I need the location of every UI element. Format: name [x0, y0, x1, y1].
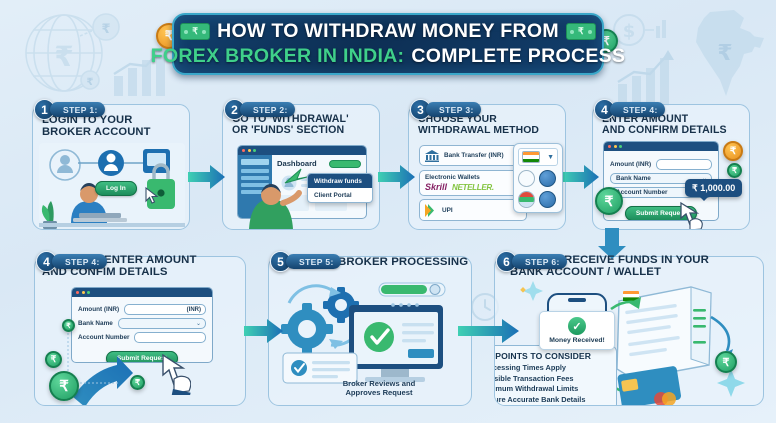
key-points-box: KEY POINTS TO CONSIDER Processing Times …	[494, 345, 617, 406]
step-pill-label: STEP 4:	[610, 102, 665, 117]
cursor-icon	[145, 187, 159, 205]
step-pill-label: STEP 5:	[286, 254, 341, 269]
login-button-label: Log In	[95, 181, 137, 196]
india-map-rupee-icon: ₹	[682, 6, 768, 102]
title-line-2-rest: COMPLETE PROCESS	[411, 45, 625, 68]
method-label: Bank Transfer (INR)	[444, 152, 504, 159]
chevron-down-icon[interactable]: ▼	[547, 154, 554, 161]
title-line-2-highlight: FOREX BROKER IN INDIA:	[151, 45, 405, 68]
step-1-head: 1 STEP 1:	[34, 99, 105, 120]
coin-badge: ₹	[715, 351, 737, 373]
title-line: ENTER AMOUNT	[104, 254, 197, 266]
coin-badge: ₹	[727, 163, 742, 178]
skrill-logo: Skrill	[425, 182, 447, 192]
globe-icon[interactable]	[539, 170, 556, 187]
step-5-title: BROKER PROCESSING	[338, 256, 468, 268]
title-line: OR 'FUNDS' SECTION	[232, 125, 349, 136]
india-flag-circle-icon[interactable]	[518, 170, 535, 187]
title-line: BROKER ACCOUNT	[42, 126, 151, 138]
globe-rupee-icon: ₹ ₹ ₹	[14, 8, 124, 103]
step-5-caption: Broker Reviews and Approves Request	[321, 379, 437, 398]
method-bank-transfer[interactable]: Bank Transfer (INR)	[419, 145, 527, 166]
coin-badge: ₹	[723, 141, 743, 161]
field-label: Bank Name	[616, 175, 651, 182]
banknote-icon: ₹	[180, 23, 210, 40]
maximize-dot-icon	[619, 145, 622, 148]
flow-arrow-icon	[244, 318, 284, 344]
menu-item-withdraw-funds[interactable]: Withdraw funds	[308, 174, 372, 188]
flow-arrow-icon	[378, 164, 416, 190]
upi-icon	[425, 204, 437, 217]
cursor-hand-icon	[677, 201, 703, 230]
field-label: Amount (INR)	[610, 161, 651, 168]
svg-text:₹: ₹	[54, 40, 73, 73]
svg-text:₹: ₹	[101, 22, 110, 37]
step-pill-label: STEP 1:	[50, 102, 105, 117]
key-point-item: Ensure Accurate Bank Details	[494, 395, 609, 406]
coin-badge-large: ₹	[595, 187, 623, 215]
method-electronic-wallets[interactable]: Electronic Wallets Skrill NETELLER.	[419, 170, 527, 196]
step-5-head: 5 STEP 5:	[270, 251, 341, 272]
coin-badge: ₹	[62, 319, 75, 332]
method-label: UPI	[442, 207, 453, 214]
method-upi[interactable]: UPI	[419, 199, 527, 221]
money-received-label: Money Received!	[549, 337, 605, 344]
step-card-5: Broker Reviews and Approves Request	[268, 256, 472, 406]
money-received-bubble: ✓ Money Received!	[539, 311, 615, 350]
caption-line: Broker Reviews and	[321, 379, 437, 388]
title-line-1: HOW TO WITHDRAW MONEY FROM	[217, 20, 559, 43]
step-pill-label: STEP 6:	[512, 254, 567, 269]
coin-badge: ₹	[45, 351, 62, 368]
method-label: Electronic Wallets	[425, 174, 480, 181]
key-points-title: KEY POINTS TO CONSIDER	[494, 351, 609, 361]
step-6-head: 6 STEP 6:	[496, 251, 567, 272]
amount-tooltip: ₹ 1,000.00	[685, 179, 742, 197]
key-point-item: Possible Transaction Fees	[494, 374, 609, 385]
step-6-title: RECEIVE FUNDS IN YOUR BANK ACCOUNT / WAL…	[564, 254, 709, 279]
menu-item-client-portal[interactable]: Client Portal	[308, 188, 372, 202]
step-pill-label: STEP 2:	[240, 102, 295, 117]
currency-region-selector[interactable]: ▼	[513, 143, 563, 213]
title-line: RECEIVE FUNDS IN YOUR	[564, 254, 709, 266]
amount-input[interactable]	[656, 159, 712, 170]
flow-arrow-icon	[458, 318, 520, 344]
title-line: WITHDRAWAL METHOD	[418, 125, 539, 136]
key-point-item: Processing Times Apply	[494, 363, 609, 374]
bank-icon	[425, 150, 439, 162]
window-titlebar	[604, 142, 718, 151]
field-label: Account Number	[616, 189, 667, 196]
step-4-head-top: 4 STEP 4:	[594, 99, 665, 120]
login-button[interactable]: Log In	[95, 177, 137, 195]
minimize-dot-icon	[614, 145, 617, 148]
neteller-logo: NETELLER.	[452, 183, 494, 192]
svg-text:$: $	[623, 21, 636, 42]
step-pill-label: STEP 3:	[426, 102, 481, 117]
check-icon: ✓	[568, 317, 586, 335]
flag-circle-icon[interactable]	[518, 191, 535, 208]
svg-text:₹: ₹	[87, 77, 94, 88]
cursor-hand-icon	[157, 353, 191, 395]
coin-badge: ₹	[130, 375, 145, 390]
withdraw-dropdown-menu[interactable]: Withdraw funds Client Portal	[307, 173, 373, 203]
globe-icon[interactable]	[539, 191, 556, 208]
infographic-canvas: ₹ ₹ ₹ $	[0, 0, 776, 423]
title-line: AND CONFIRM DETAILS	[602, 125, 727, 136]
step-2-head: 2 STEP 2:	[224, 99, 295, 120]
form-field-amount[interactable]: Amount (INR)	[610, 159, 712, 170]
india-flag-icon	[522, 151, 540, 163]
banknote-icon: ₹	[566, 23, 596, 40]
key-point-item: Minimum Withdrawal Limits	[494, 384, 609, 395]
caption-line: Approves Request	[321, 388, 437, 397]
close-dot-icon	[608, 145, 611, 148]
title-banner: ₹ HOW TO WITHDRAW MONEY FROM ₹ FOREX BRO…	[172, 13, 604, 75]
title-line: BROKER PROCESSING	[338, 256, 468, 268]
flow-arrow-icon	[188, 164, 226, 190]
step-3-head: 3 STEP 3:	[410, 99, 481, 120]
step-4-head-bottom: 4 STEP 4:	[36, 251, 107, 272]
svg-text:₹: ₹	[717, 41, 732, 66]
step-4-title-bottom: ENTER AMOUNT AND CONFIM DETAILS	[104, 254, 197, 279]
step-pill-label: STEP 4:	[52, 254, 107, 269]
flow-arrow-icon	[562, 164, 600, 190]
coin-badge-large: ₹	[49, 371, 79, 401]
